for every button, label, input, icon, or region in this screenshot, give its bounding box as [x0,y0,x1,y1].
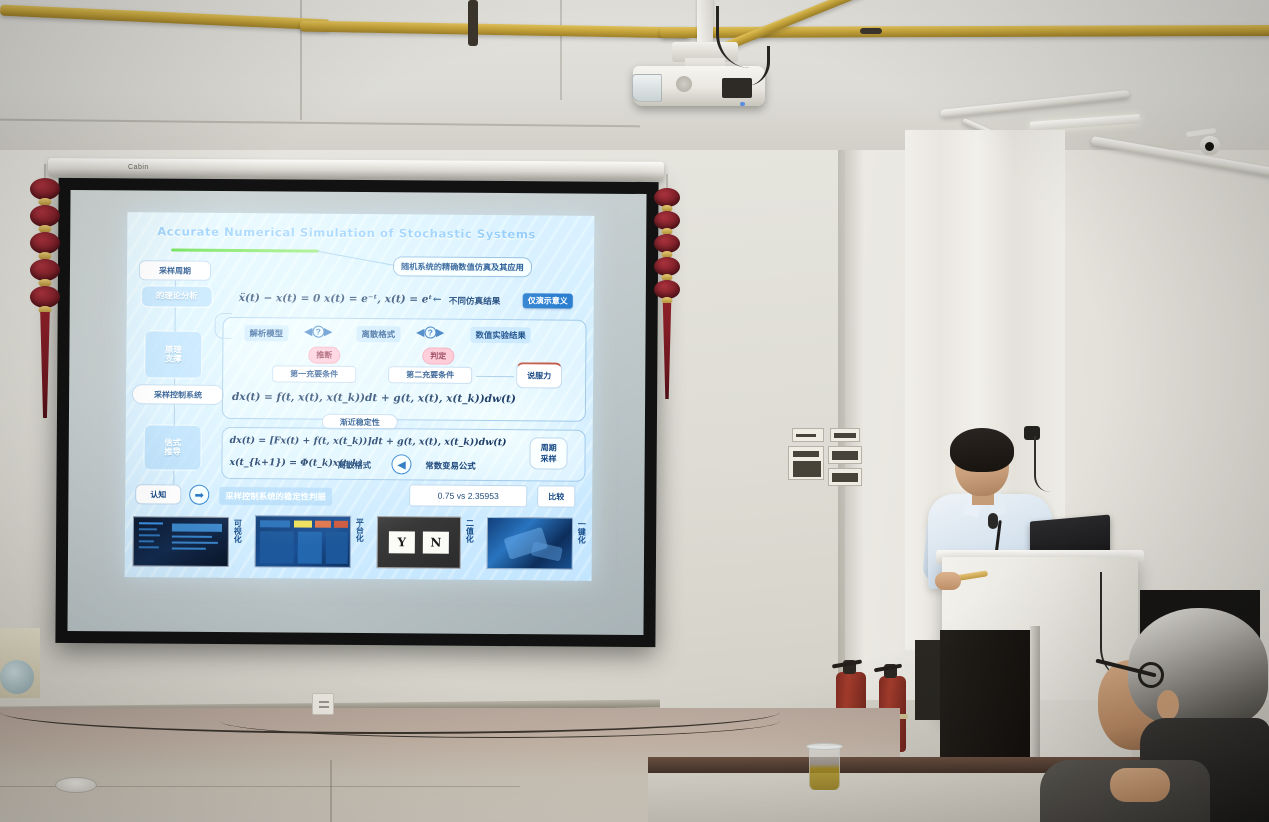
slide-node-sampled-control-system: 采样控制系统 [132,384,224,405]
audience-ear [1157,690,1179,720]
binary-cell-n: N [423,532,449,554]
slide-node-sampling-period: 采样周期 [139,260,211,281]
slide-thumb-label-binary: 二值化 [465,519,474,543]
floor-bowl [55,777,97,793]
slide-compare-button[interactable]: 比较 [537,485,575,507]
slide-flow-node-analytic-model: 解析模型 [244,325,288,341]
slide-derivation-eq1: dx(t) = [Fx(t) + f(t, x(t_k))]dt + g(t, … [230,435,507,448]
pipe-fitting [860,28,882,34]
slide-derivation-eq2-note: 离散格式 [337,459,371,471]
chinese-knot-left [24,178,66,428]
chinese-knot-right [648,188,686,438]
slide-variation-of-constants: 常数变易公式 [425,460,475,472]
slide-thumbnail-platform [255,515,351,568]
wall-sign-1 [792,428,824,442]
question-circle-1: ? [312,326,324,338]
slide-cognition-label: 认知 [135,484,181,504]
connector-v1 [175,281,176,287]
lecture-hall-photo: Cabin Accurate Numerical Simulation of S… [0,0,1269,822]
wall-sign-4 [828,446,862,464]
slide-comparison-values: 0.75 vs 2.35953 [409,484,527,507]
slide-question-mark-1: ◀?▶ [304,326,331,338]
slide-left-arrow-icon: ◀ [391,454,411,474]
slide-question-mark-2: ◀?▶ [416,326,443,338]
knot-gold-bead [662,297,673,304]
projected-slide: Accurate Numerical Simulation of Stochas… [125,212,595,581]
floor-tile-line [330,760,332,822]
slide-condition-2: 第二充要条件 [388,366,472,384]
slide-thumb-label-visualization: 可视化 [233,519,242,543]
slide-flow-node-numerical-result: 数值实验结果 [470,327,530,343]
wall-sign-2 [788,446,824,480]
derivation-line2: 推导 [164,447,181,457]
slide-node-principle-support: 原理 支撑 [144,330,202,378]
slide-thumb-label-onekey: 一键化 [577,520,586,544]
camera-lens [1205,142,1214,151]
wall-cable [1034,436,1050,492]
ceiling-seam-vertical-2 [560,0,562,100]
slide-thumbnail-onekey [487,517,573,570]
speaker-hair [950,428,1014,472]
knot-bead [30,232,60,254]
connector-v3 [174,379,175,386]
slide-title-english: Accurate Numerical Simulation of Stochas… [157,224,536,241]
slide-flow-node-discrete-scheme: 离散格式 [356,326,400,342]
wall-sign-5 [828,468,862,486]
slide-result-persuasiveness: 说服力 [516,362,562,388]
slide-thumbnail-visualization [133,516,229,567]
slide-thumb-label-platform: 平台化 [355,518,364,542]
knot-bead [30,286,60,308]
slide-equation-top: ẍ(t) − x(t) = 0 x(t) = e⁻ᵗ, x(t) = eᵗ [239,292,433,306]
metal-door-strip [1030,626,1040,761]
periodic-line2: 采样 [540,453,556,464]
audience-hand [1110,768,1170,802]
speaker-hand [935,572,961,590]
knot-tassel-left [37,312,53,418]
slide-right-arrow-icon: ➡ [189,485,209,505]
principle-line2: 支撑 [165,354,182,364]
knot-bead [30,178,60,200]
slide-thumbnail-binary: Y N [377,516,461,569]
dark-ceiling-pipe [468,0,478,46]
question-circle-2: ? [424,327,436,339]
slide-demo-badge: 仅演示意义 [523,293,573,308]
knot-tassel-right [660,303,674,399]
projector-lens [632,74,662,102]
floor-cable-2 [220,704,780,738]
connector-v5 [173,471,174,486]
microphone-head [988,513,998,529]
projector-power-led [740,102,745,106]
projector-vent [676,76,692,92]
slide-cognition-highlight: 采样控制系统的稳定性判据 [219,487,332,506]
slide-node-derivation: 信式 推导 [143,424,201,470]
binary-cell-y: Y [389,531,415,553]
roller-brand-label: Cabin [128,164,149,171]
slide-equation-note: 不同仿真结果 [449,295,501,307]
slide-condition-1: 第一充要条件 [272,365,356,383]
slide-pill-inference: 推断 [308,347,340,364]
slide-node-theory-analysis: 的理论分析 [141,285,213,308]
slide-sde-equation: dx(t) = f(t, x(t), x(t_k))dt + g(t, x(t)… [232,391,516,405]
slide-periodic-sampling-badge: 周期 采样 [529,437,567,469]
left-round-fixture [0,660,34,694]
knot-bead [30,259,60,281]
wall-sign-3 [830,428,860,442]
connector-v4 [174,405,175,426]
slide-title-chinese: 随机系统的精确数值仿真及其应用 [393,256,532,277]
slide-pill-judgement: 判定 [422,347,454,364]
slide-equation-arrow: ← [433,294,442,306]
cup-rim [806,743,843,750]
dark-cabinet-right [940,630,1035,760]
periodic-line1: 周期 [541,442,557,453]
connector-v2 [175,308,176,332]
knot-bead [30,205,60,227]
drinking-cup [809,745,840,791]
